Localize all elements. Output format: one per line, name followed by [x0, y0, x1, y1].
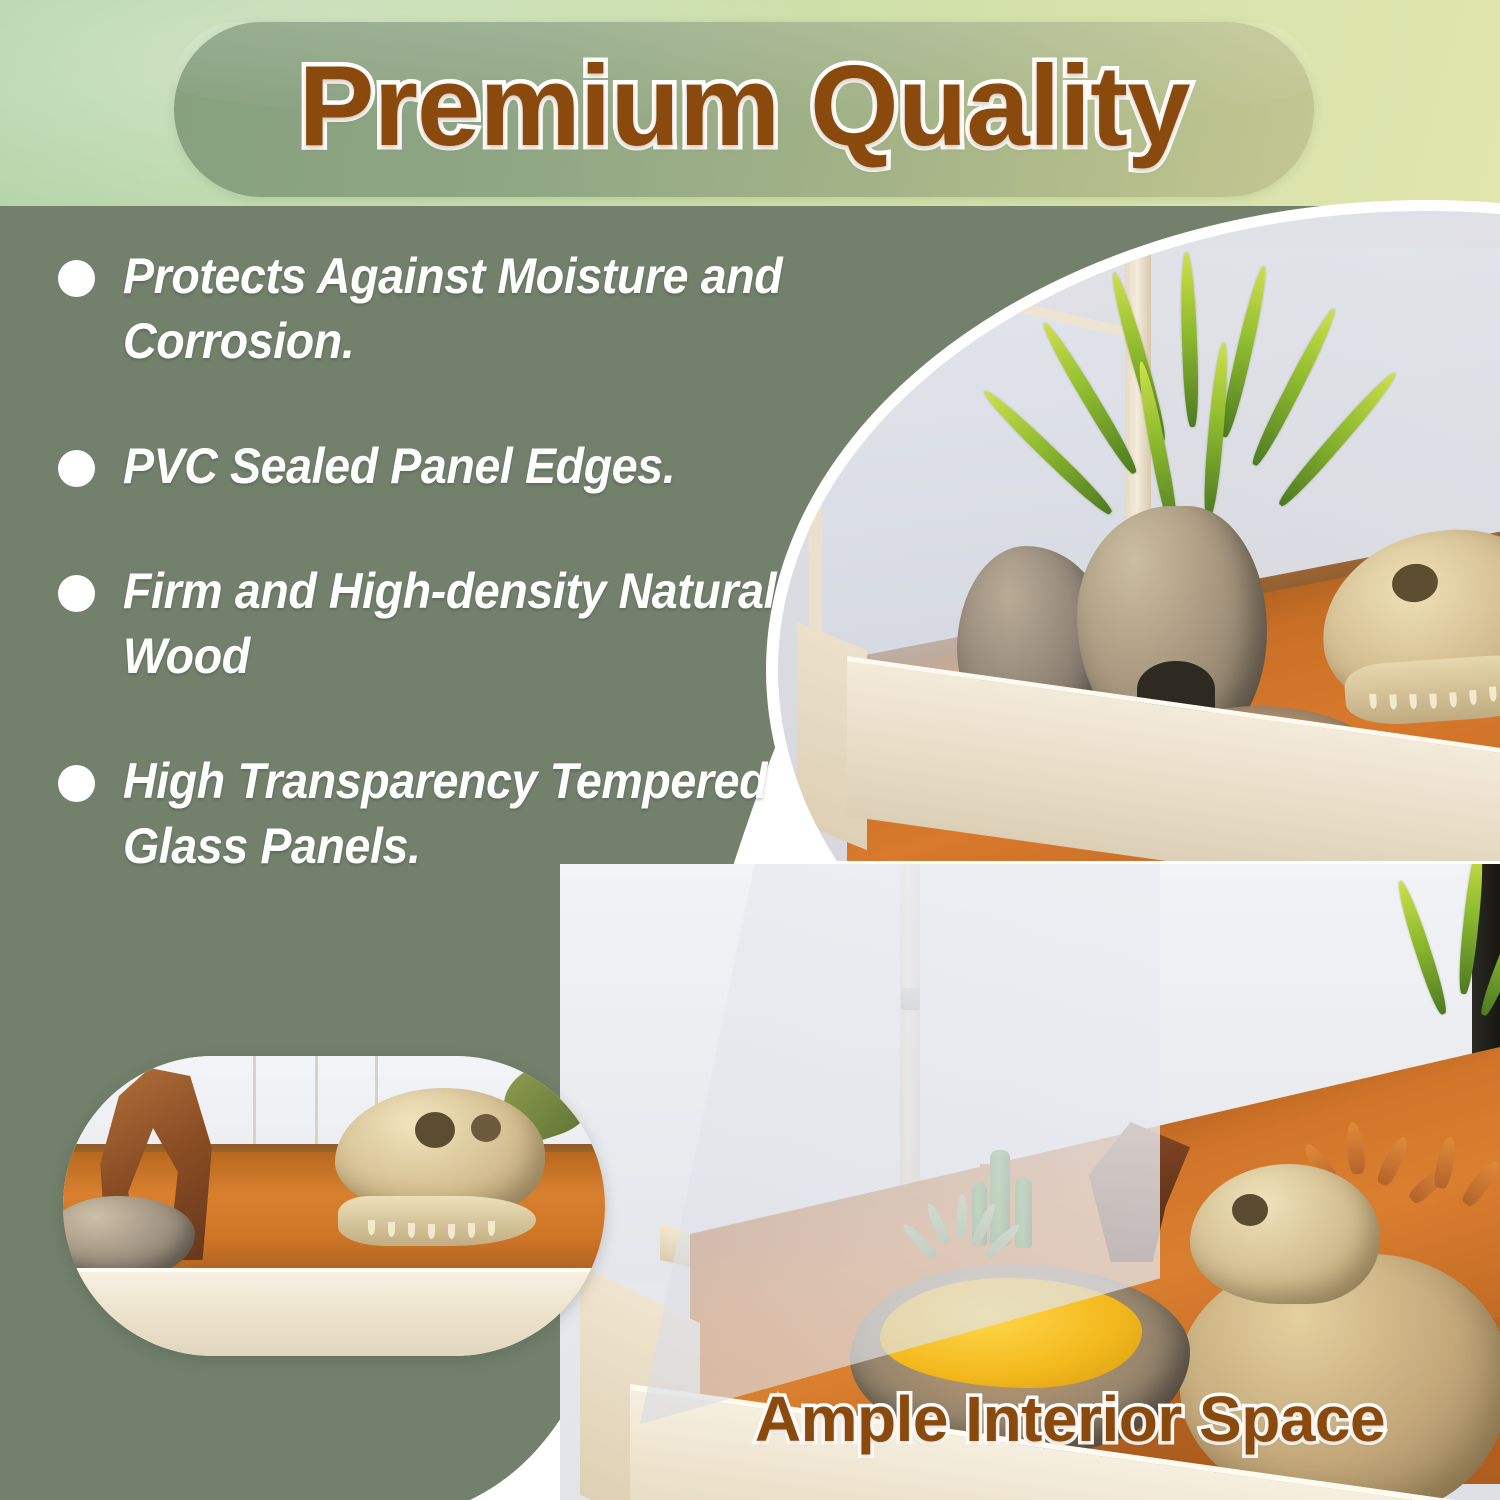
bullet-dot-icon — [58, 575, 95, 612]
feature-item-tempered-glass: High Transparency Tempered Glass Panels. — [58, 749, 848, 879]
bullet-dot-icon — [58, 260, 95, 297]
feature-item-pvc-sealed-edges: PVC Sealed Panel Edges. — [58, 434, 848, 499]
bottom-caption: Ample Interior Space — [640, 1382, 1500, 1456]
infographic-canvas: Premium Quality Protects Against Moistur… — [0, 0, 1500, 1500]
page-title: Premium Quality — [174, 34, 1314, 180]
bullet-dot-icon — [58, 765, 95, 802]
skull-eye-socket — [415, 1112, 455, 1148]
feature-label: PVC Sealed Panel Edges. — [123, 434, 675, 499]
skull-eye-socket — [1232, 1194, 1268, 1226]
feature-label: Protects Against Moisture and Corrosion. — [123, 244, 797, 374]
skull-jaw — [338, 1196, 536, 1246]
bullet-dot-icon — [58, 450, 95, 487]
feature-item-natural-wood: Firm and High-density Natural Wood — [58, 559, 848, 689]
fern-plant-decor — [1432, 864, 1500, 1074]
wood-base — [63, 1268, 605, 1356]
skull-eye-socket — [471, 1114, 501, 1142]
feature-item-moisture-corrosion: Protects Against Moisture and Corrosion. — [58, 244, 848, 374]
bottom-left-inset-photo — [63, 1056, 605, 1356]
feature-list: Protects Against Moisture and Corrosion.… — [58, 244, 848, 939]
feature-label: High Transparency Tempered Glass Panels. — [123, 749, 797, 879]
feature-label: Firm and High-density Natural Wood — [123, 559, 797, 689]
